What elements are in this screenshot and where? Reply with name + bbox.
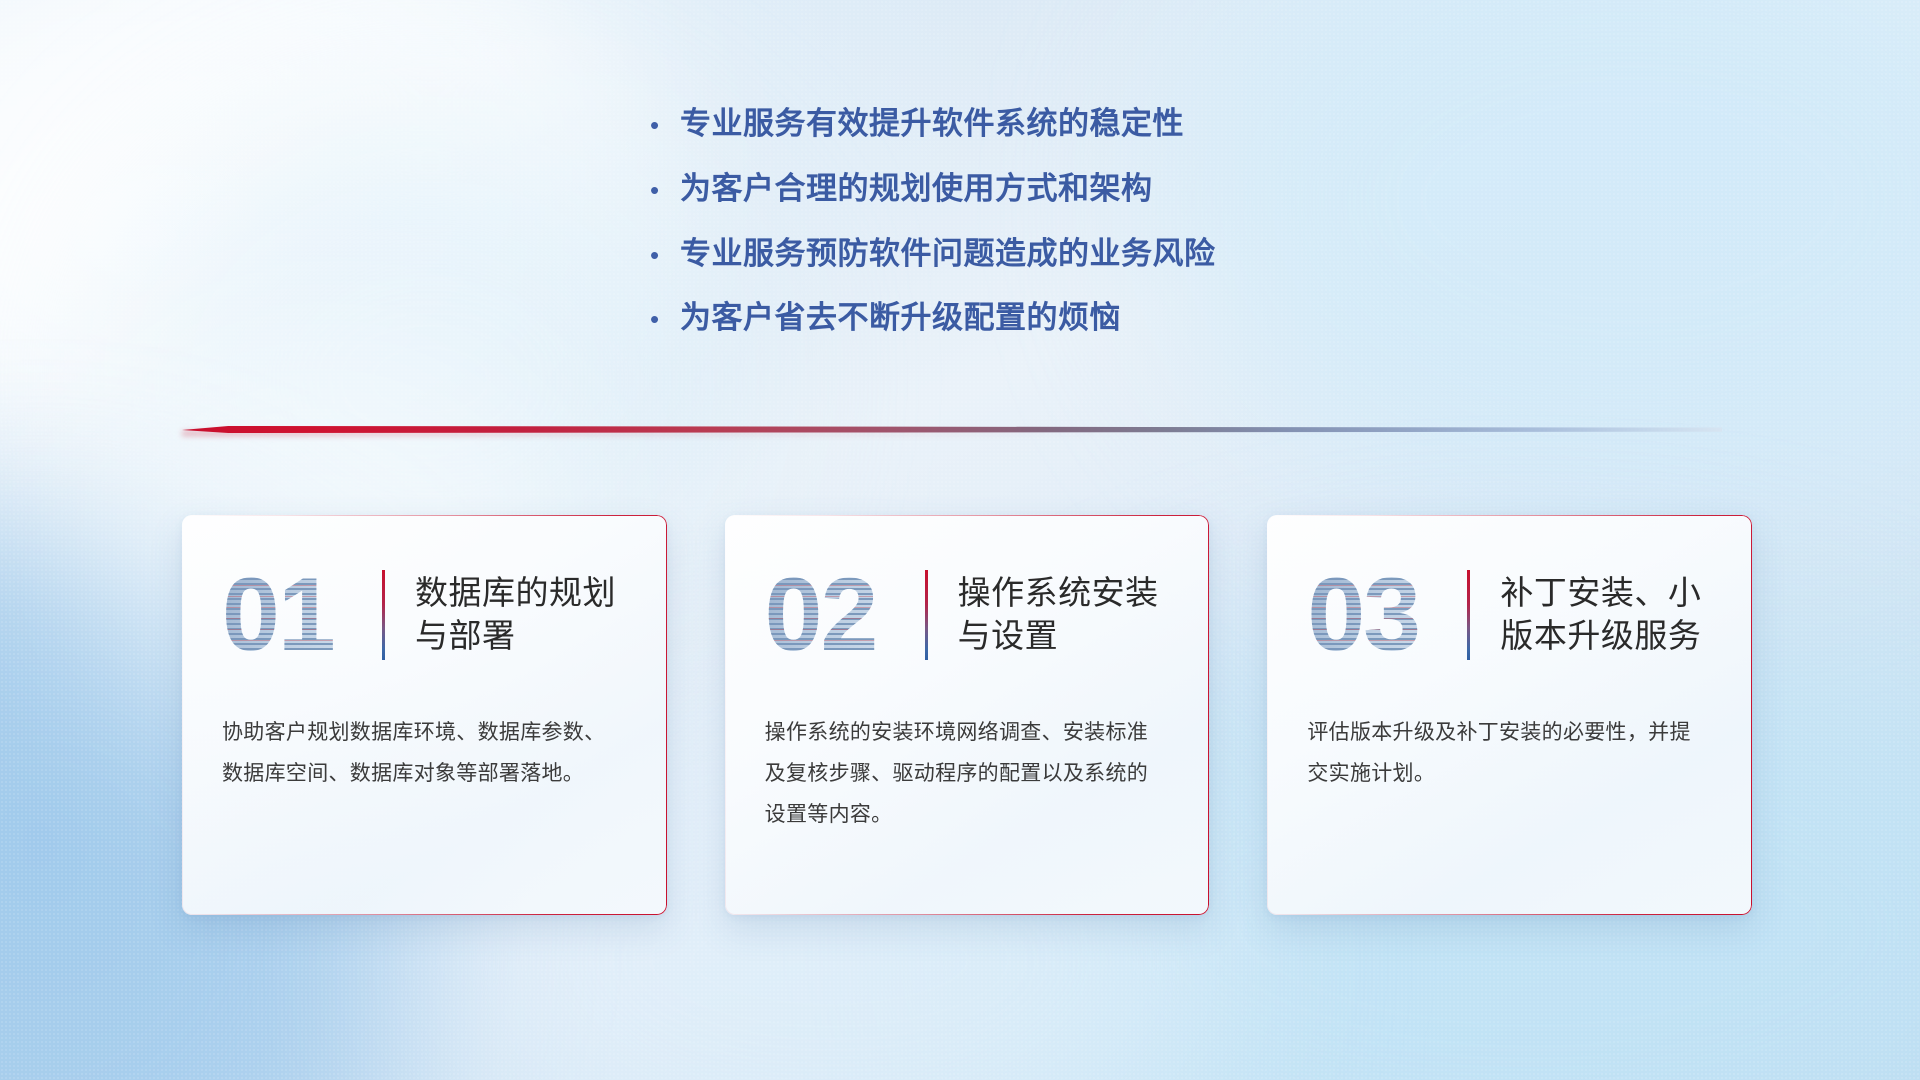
card-accent-bar [1467, 570, 1470, 660]
card-number-watermark: 02 [765, 563, 915, 667]
bullet-text: 为客户省去不断升级配置的烦恼 [680, 299, 1121, 338]
card-header: 02 操作系统安装与设置 [765, 555, 1170, 675]
bullet-dot-icon: • [650, 177, 680, 203]
card-description: 协助客户规划数据库环境、数据库参数、数据库空间、数据库对象等部署落地。 [222, 713, 627, 795]
bullet-text: 为客户合理的规划使用方式和架构 [680, 170, 1153, 209]
card-number-watermark: 01 [222, 563, 372, 667]
divider-line [182, 426, 1722, 433]
list-item: • 为客户省去不断升级配置的烦恼 [650, 299, 1410, 338]
service-card[interactable]: 03 补丁安装、小版本升级服务 评估版本升级及补丁安装的必要性，并提交实施计划。 [1267, 515, 1752, 915]
card-title: 数据库的规划与部署 [415, 572, 627, 658]
slide-canvas: • 专业服务有效提升软件系统的稳定性 • 为客户合理的规划使用方式和架构 • 专… [0, 0, 1920, 1080]
bullet-dot-icon: • [650, 112, 680, 138]
list-item: • 为客户合理的规划使用方式和架构 [650, 170, 1410, 209]
card-header: 01 数据库的规划与部署 [222, 555, 627, 675]
card-title: 操作系统安装与设置 [958, 572, 1170, 658]
list-item: • 专业服务有效提升软件系统的稳定性 [650, 105, 1410, 144]
card-description: 评估版本升级及补丁安装的必要性，并提交实施计划。 [1307, 713, 1712, 795]
bullet-dot-icon: • [650, 242, 680, 268]
background-blob [0, 0, 640, 520]
bullet-dot-icon: • [650, 306, 680, 332]
bullet-text: 专业服务有效提升软件系统的稳定性 [680, 105, 1184, 144]
service-card[interactable]: 02 操作系统安装与设置 操作系统的安装环境网络调查、安装标准及复核步骤、驱动程… [725, 515, 1210, 915]
section-divider [182, 424, 1722, 440]
service-card-list: 01 数据库的规划与部署 协助客户规划数据库环境、数据库参数、数据库空间、数据库… [182, 515, 1752, 915]
card-number-watermark: 03 [1307, 563, 1457, 667]
card-header: 03 补丁安装、小版本升级服务 [1307, 555, 1712, 675]
bullet-text: 专业服务预防软件问题造成的业务风险 [680, 235, 1216, 274]
card-accent-bar [925, 570, 928, 660]
benefits-list: • 专业服务有效提升软件系统的稳定性 • 为客户合理的规划使用方式和架构 • 专… [650, 105, 1410, 364]
card-accent-bar [382, 570, 385, 660]
service-card[interactable]: 01 数据库的规划与部署 协助客户规划数据库环境、数据库参数、数据库空间、数据库… [182, 515, 667, 915]
card-title: 补丁安装、小版本升级服务 [1500, 572, 1712, 658]
card-description: 操作系统的安装环境网络调查、安装标准及复核步骤、驱动程序的配置以及系统的设置等内… [765, 713, 1170, 836]
list-item: • 专业服务预防软件问题造成的业务风险 [650, 235, 1410, 274]
